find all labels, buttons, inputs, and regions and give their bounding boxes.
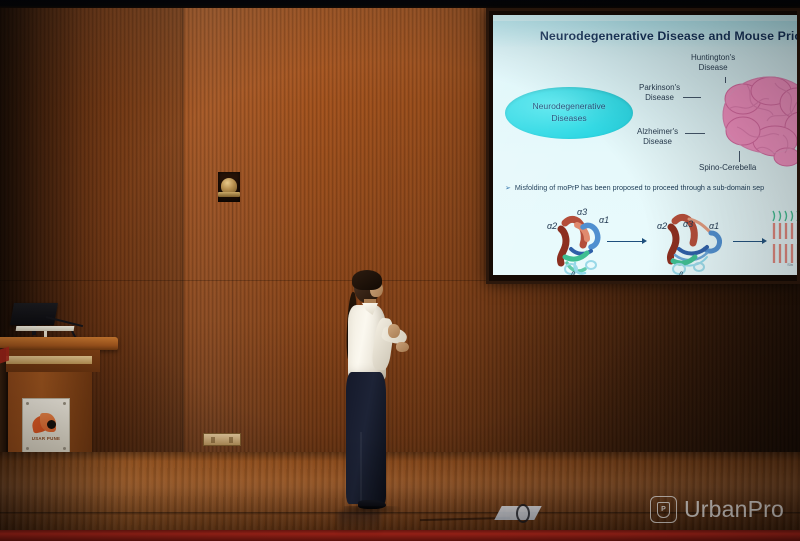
slide-title: Neurodegenerative Disease and Mouse Prio <box>519 29 797 43</box>
protein-structure-native: α2 α3 α1 β <box>541 203 619 275</box>
amyloid-fibril <box>769 209 797 269</box>
presenter-hair <box>352 270 382 290</box>
floor-object-ring <box>516 504 530 523</box>
plaque-screw <box>63 402 66 405</box>
podium-logo-plaque: USAR PUNE <box>22 398 70 454</box>
urbanpro-shield-icon: P <box>657 502 670 518</box>
callout-line-1: Neurodegenerative <box>532 101 605 113</box>
slide-bullet: ➢Misfolding of moPrP has been proposed t… <box>505 183 797 192</box>
slide-credit: Sin <box>787 262 793 267</box>
brain-label-huntingtons: Huntington's Disease <box>691 53 735 74</box>
podium-trim-upper <box>0 356 92 364</box>
presenter-hand-lower <box>396 342 409 352</box>
urbanpro-wordmark: UrbanPro <box>684 496 784 523</box>
svg-text:β: β <box>678 272 683 275</box>
transition-arrow-1 <box>607 241 643 242</box>
bullet-arrow-icon: ➢ <box>505 185 511 192</box>
svg-text:α3: α3 <box>577 207 587 217</box>
presenter <box>330 272 416 516</box>
outlet-slot <box>211 437 215 443</box>
institution-logo-icon <box>31 412 61 434</box>
plaque-screw <box>26 402 29 405</box>
callout-ellipse: Neurodegenerative Diseases <box>505 87 633 139</box>
red-marker <box>0 347 9 364</box>
svg-text:α1: α1 <box>599 215 609 225</box>
label-tick <box>683 97 701 98</box>
wall-outlet-plate <box>203 433 241 446</box>
projection-screen: Neurodegenerative Disease and Mouse Prio… <box>486 8 800 284</box>
institution-logo-text: USAR PUNE <box>32 436 61 441</box>
presentation-slide: Neurodegenerative Disease and Mouse Prio… <box>493 15 797 275</box>
svg-text:α1: α1 <box>709 221 719 231</box>
transition-arrow-1-head <box>642 238 647 244</box>
label-tick <box>685 133 705 134</box>
transition-arrow-2 <box>733 241 763 242</box>
logo-dot <box>47 420 56 429</box>
podium-monitor <box>10 303 58 325</box>
svg-text:α2: α2 <box>547 221 557 231</box>
label-tick <box>725 77 726 83</box>
callout-line-2: Diseases <box>532 113 605 125</box>
slide-bullet-text: Misfolding of moPrP has been proposed to… <box>515 183 764 192</box>
plaque-screw <box>63 447 66 450</box>
brain-label-parkinsons: Parkinson's Disease <box>639 83 680 104</box>
label-tick <box>739 151 740 162</box>
svg-text:α2: α2 <box>657 221 667 231</box>
protein-structure-intermediate: α2 α3 α1 β <box>653 203 731 275</box>
presenter-hand-upper <box>388 324 400 338</box>
svg-text:β: β <box>570 272 575 275</box>
sconce-base <box>218 192 240 197</box>
callout-text: Neurodegenerative Diseases <box>532 101 605 124</box>
presenter-trousers <box>346 372 386 504</box>
outlet-slot <box>229 437 233 443</box>
stage-edge-strip <box>0 530 800 541</box>
urbanpro-watermark: P UrbanPro <box>650 496 784 523</box>
brain-label-alzheimers: Alzheimer's Disease <box>637 127 678 148</box>
podium-desktop <box>0 337 118 350</box>
wall-panel-seam <box>232 8 233 456</box>
transition-arrow-2-head <box>762 238 767 244</box>
screenshot-root: Neurodegenerative Disease and Mouse Prio… <box>0 0 800 541</box>
plaque-screw <box>26 447 29 450</box>
presenter-floor-reflection <box>338 512 380 534</box>
protein-folding-diagram: α2 α3 α1 β <box>511 201 797 275</box>
svg-text:α3: α3 <box>683 219 693 229</box>
brain-label-spino-cerebellar: Spino-Cerebella <box>699 163 756 173</box>
urbanpro-badge-icon: P <box>650 496 677 523</box>
